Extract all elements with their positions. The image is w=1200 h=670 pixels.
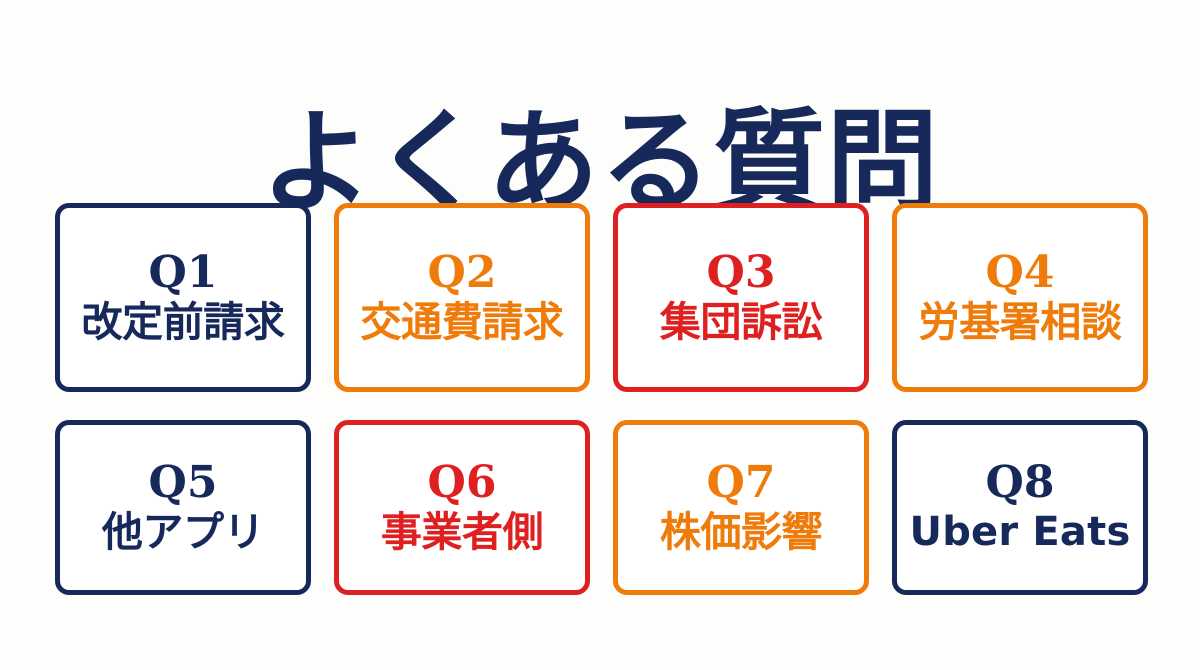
faq-card-number: Q4 <box>986 251 1055 295</box>
faq-card-label: 集団訴訟 <box>660 301 822 344</box>
faq-card-label: 株価影響 <box>660 511 822 554</box>
faq-card-q3[interactable]: Q3 集団訴訟 <box>613 203 869 392</box>
faq-card-q4[interactable]: Q4 労基署相談 <box>892 203 1148 392</box>
faq-card-number: Q8 <box>986 461 1055 505</box>
faq-card-label: 交通費請求 <box>361 301 564 344</box>
faq-card-number: Q5 <box>149 461 218 505</box>
faq-card-q8[interactable]: Q8 Uber Eats <box>892 420 1148 595</box>
faq-card-q6[interactable]: Q6 事業者側 <box>334 420 590 595</box>
faq-card-number: Q3 <box>707 251 776 295</box>
faq-card-number: Q1 <box>149 251 218 295</box>
faq-card-number: Q2 <box>428 251 497 295</box>
faq-card-label: 改定前請求 <box>82 301 285 344</box>
faq-card-q7[interactable]: Q7 株価影響 <box>613 420 869 595</box>
faq-slide: よくある質問 Q1 改定前請求 Q2 交通費請求 Q3 集団訴訟 Q4 労基署相… <box>0 0 1200 670</box>
faq-card-q1[interactable]: Q1 改定前請求 <box>55 203 311 392</box>
faq-card-label: 他アプリ <box>102 511 264 554</box>
faq-card-q5[interactable]: Q5 他アプリ <box>55 420 311 595</box>
faq-card-number: Q7 <box>707 461 776 505</box>
faq-card-q2[interactable]: Q2 交通費請求 <box>334 203 590 392</box>
faq-card-number: Q6 <box>428 461 497 505</box>
faq-card-label: 労基署相談 <box>919 301 1122 344</box>
faq-card-label: Uber Eats <box>910 511 1131 553</box>
faq-card-grid: Q1 改定前請求 Q2 交通費請求 Q3 集団訴訟 Q4 労基署相談 Q5 他ア… <box>55 203 1147 595</box>
faq-card-label: 事業者側 <box>381 511 543 554</box>
